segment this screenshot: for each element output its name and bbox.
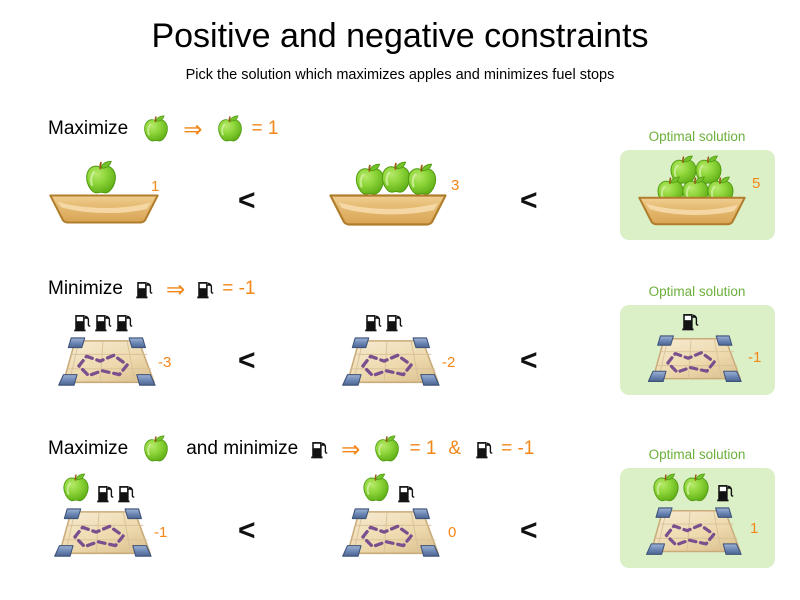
option-cell[interactable]: 0	[320, 472, 500, 572]
apple-icon	[141, 114, 171, 145]
bowl-icon	[328, 193, 448, 227]
option-value: -3	[158, 355, 171, 370]
legend-equals-2: = -1	[501, 438, 534, 460]
option-value: -1	[154, 525, 167, 540]
fuel-pump-icon	[95, 312, 113, 332]
comparator-less-than: <	[238, 346, 256, 376]
comparator-less-than: <	[520, 346, 538, 376]
bowl-icon	[637, 195, 747, 227]
apple-icon	[360, 472, 392, 505]
fuel-pump-icon	[97, 483, 115, 503]
row-legend-combined: Maximize and minimize ⇒ = 1 & = -1	[48, 432, 534, 466]
option-cell[interactable]: -1	[36, 472, 216, 572]
legend-equals: = -1	[222, 278, 255, 300]
apple-icon	[215, 114, 245, 145]
implies-arrow-icon: ⇒	[183, 118, 202, 141]
option-value: 0	[448, 525, 456, 540]
implies-arrow-icon: ⇒	[166, 278, 185, 301]
constraint-row-minimize-fuel: Minimize ⇒ = -1 -3 <	[0, 268, 800, 403]
fuel-pump-icon	[717, 482, 735, 502]
fuel-pump-icon	[682, 311, 700, 331]
fuel-pump-icon	[386, 312, 404, 332]
apple-icon	[60, 472, 92, 505]
fuel-pump-icon	[476, 439, 494, 459]
option-value: 5	[752, 176, 760, 191]
comparator-less-than: <	[238, 186, 256, 216]
option-cell-optimal[interactable]: Optimal solution 1	[612, 428, 792, 578]
legend-ampersand: &	[448, 438, 461, 460]
fuel-pump-icon	[311, 439, 329, 459]
option-value: 1	[151, 179, 159, 194]
optimal-solution-label: Optimal solution	[612, 285, 782, 299]
route-map-icon	[50, 336, 158, 392]
constraint-row-maximize-apples: Maximize ⇒ = 1 1 <	[0, 108, 800, 248]
apple-icon	[141, 434, 171, 465]
option-cell-optimal[interactable]: Optimal solution 5	[612, 108, 792, 248]
implies-arrow-icon: ⇒	[341, 438, 360, 461]
page-subtitle: Pick the solution which maximizes apples…	[0, 66, 800, 84]
option-cell[interactable]: -3	[36, 312, 216, 402]
route-map-icon	[640, 334, 744, 388]
fuel-pump-icon	[74, 312, 92, 332]
option-value: -1	[748, 350, 761, 365]
option-cell[interactable]: 1	[36, 154, 206, 244]
option-value: 3	[451, 178, 459, 193]
apple-icon	[680, 472, 712, 505]
comparator-less-than: <	[520, 516, 538, 546]
comparator-less-than: <	[520, 186, 538, 216]
legend-equals: = 1	[252, 118, 279, 140]
optimal-solution-label: Optimal solution	[612, 448, 782, 462]
route-map-icon	[334, 507, 442, 563]
fuel-pump-icon	[365, 312, 383, 332]
fuel-pump-icon	[118, 483, 136, 503]
route-map-icon	[46, 507, 154, 563]
row-legend-minimize-fuel: Minimize ⇒ = -1	[48, 272, 256, 306]
fuel-pump-icon	[136, 279, 154, 299]
legend-verb: Minimize	[48, 278, 123, 300]
option-cell[interactable]: 3	[320, 154, 520, 244]
apple-icon	[650, 472, 682, 505]
row-legend-maximize-apples: Maximize ⇒ = 1	[48, 112, 278, 146]
route-map-icon	[334, 336, 442, 392]
legend-verb: Maximize	[48, 118, 128, 140]
option-value: -2	[442, 355, 455, 370]
comparator-less-than: <	[238, 516, 256, 546]
constraint-row-maximize-apples-minimize-fuel: Maximize and minimize ⇒ = 1 & = -1	[0, 428, 800, 578]
fuel-pump-icon	[116, 312, 134, 332]
optimal-solution-label: Optimal solution	[612, 130, 782, 144]
legend-equals: = 1	[409, 438, 436, 460]
option-cell-optimal[interactable]: Optimal solution -1	[612, 268, 792, 403]
route-map-icon	[638, 506, 744, 561]
bowl-icon	[48, 193, 160, 225]
legend-verb: Maximize	[48, 438, 128, 460]
legend-conjunction: and minimize	[186, 438, 298, 460]
apple-icon	[372, 434, 402, 465]
option-cell[interactable]: -2	[320, 312, 500, 402]
page-title: Positive and negative constraints	[0, 16, 800, 56]
fuel-pump-icon	[197, 279, 215, 299]
fuel-pump-icon	[398, 483, 416, 503]
option-value: 1	[750, 521, 758, 536]
